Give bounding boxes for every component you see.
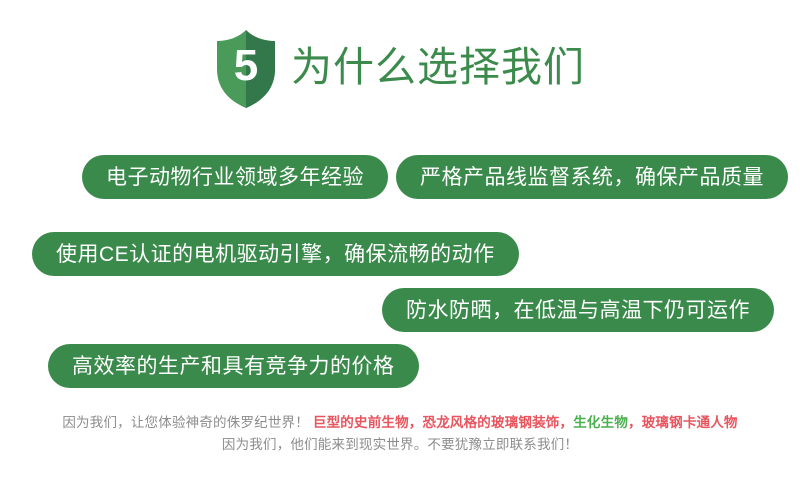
- footer-highlight-red-1: 巨型的史前生物，恐龙风格的玻璃钢装饰，: [313, 415, 573, 430]
- feature-pill-1: 电子动物行业领域多年经验: [82, 155, 388, 199]
- footer-line-1-prefix: 因为我们，让您体验神奇的侏罗纪世界！: [62, 415, 313, 430]
- footer-paragraph: 因为我们，让您体验神奇的侏罗纪世界！ 巨型的史前生物，恐龙风格的玻璃钢装饰，生化…: [0, 412, 800, 456]
- feature-pill-4: 防水防晒，在低温与高温下仍可运作: [382, 288, 774, 332]
- footer-highlight-green: 生化生物: [573, 415, 628, 430]
- page-title: 为什么选择我们: [291, 47, 585, 92]
- header: 5 为什么选择我们: [0, 24, 800, 114]
- footer-line-2: 因为我们，他们能来到现实世界。不要犹豫立即联系我们！: [0, 434, 800, 456]
- shield-badge: 5: [215, 29, 277, 109]
- feature-pill-2: 严格产品线监督系统，确保产品质量: [396, 155, 788, 199]
- footer-line-1: 因为我们，让您体验神奇的侏罗纪世界！ 巨型的史前生物，恐龙风格的玻璃钢装饰，生化…: [0, 412, 800, 434]
- footer-highlight-red-2: ，玻璃钢卡通人物: [628, 415, 738, 430]
- feature-pill-3: 使用CE认证的电机驱动引擎，确保流畅的动作: [32, 232, 519, 276]
- shield-number: 5: [215, 29, 277, 109]
- promo-banner: 5 为什么选择我们 电子动物行业领域多年经验 严格产品线监督系统，确保产品质量 …: [0, 0, 800, 485]
- feature-pill-5: 高效率的生产和具有竞争力的价格: [48, 344, 419, 388]
